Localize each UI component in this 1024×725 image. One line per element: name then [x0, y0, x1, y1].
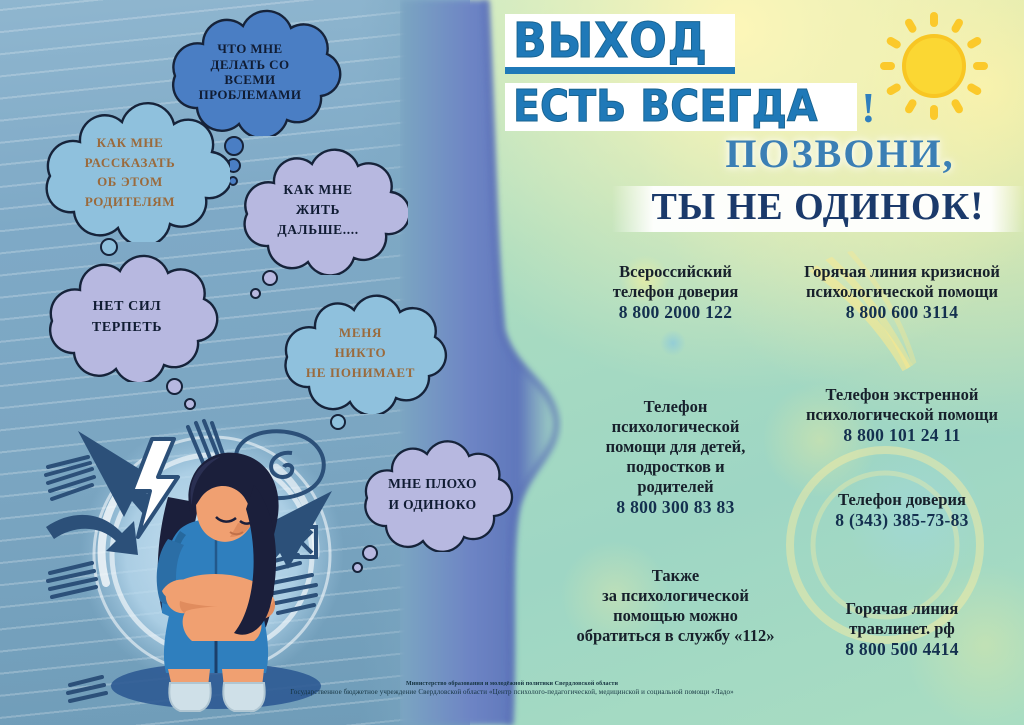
phone-label-line: Горячая линия [782, 599, 1022, 619]
thought-bubble-nobody-understands: МЕНЯ НИКТО НЕ ПОНИМАЕТ [268, 292, 453, 414]
headline-exclamation-2: ! [970, 183, 984, 228]
bubble-line: ЧТО МНЕ [199, 41, 302, 56]
bubble-text: КАК МНЕ ЖИТЬ ДАЛЬШЕ.... [277, 180, 358, 241]
phone-label-line: Горячая линия кризисной [782, 262, 1022, 282]
footer-institution-line: Государственное бюджетное учреждение Све… [0, 688, 1024, 697]
bubble-text: НЕТ СИЛ ТЕРПЕТЬ [92, 296, 162, 338]
phone-label-line: Телефон экстренной [782, 385, 1022, 405]
bubble-text: КАК МНЕ РАССКАЗАТЬ ОБ ЭТОМ РОДИТЕЛЯМ [85, 133, 176, 211]
bubble-line: КАК МНЕ [277, 180, 358, 200]
bubble-line: РОДИТЕЛЯМ [85, 192, 176, 212]
bubble-tail-dot [250, 288, 261, 299]
bubble-line: МЕНЯ [306, 323, 415, 343]
bubble-text: МНЕ ПЛОХО И ОДИНОКО [388, 474, 477, 515]
phone-label-line: помощью можно [554, 606, 797, 626]
bubble-line: НИКТО [306, 343, 415, 363]
phone-label-line: родителей [568, 477, 783, 497]
headline-line-3: ПОЗВОНИ, [660, 130, 1020, 177]
phone-number[interactable]: 8 800 300 83 83 [568, 497, 783, 518]
headline-exclamation-1: ! [861, 87, 875, 131]
phone-label-line: психологической [568, 417, 783, 437]
bubble-line: РАССКАЗАТЬ [85, 153, 176, 173]
phone-label-line: подростков и [568, 457, 783, 477]
poster-canvas: ВЫХОД ЕСТЬ ВСЕГДА ! ПОЗВОНИ, ТЫ НЕ ОДИНО… [0, 0, 1024, 725]
phone-block: Также за психологической помощью можно о… [554, 566, 797, 646]
headline-always-row: ЕСТЬ ВСЕГДА ! [505, 83, 1015, 131]
bubble-line: ДАЛЬШЕ.... [277, 220, 358, 240]
headline-always-box: ЕСТЬ ВСЕГДА [505, 83, 857, 131]
bubble-line: ТЕРПЕТЬ [92, 317, 162, 338]
headline-line-4: ТЫ НЕ ОДИНОК [652, 186, 971, 228]
phone-label-line: Всероссийский [568, 262, 783, 282]
headline-line-2: ЕСТЬ ВСЕГДА [513, 83, 818, 131]
phone-number[interactable]: 8 800 600 3114 [782, 302, 1022, 323]
headline-exit-box: ВЫХОД [505, 14, 735, 74]
phone-block: Телефон доверия 8 (343) 385-73-83 [782, 490, 1022, 531]
phone-label-line: за психологической [554, 586, 797, 606]
bubble-line: КАК МНЕ [85, 133, 176, 153]
phone-label-line: Телефон доверия [782, 490, 1022, 510]
bubble-text: МЕНЯ НИКТО НЕ ПОНИМАЕТ [306, 323, 415, 383]
phone-block: Горячая линия травлинет. рф 8 800 500 44… [782, 599, 1022, 660]
phone-column-left: Всероссийский телефон доверия 8 800 2000… [568, 262, 783, 646]
phone-number[interactable]: 8 (343) 385-73-83 [782, 510, 1022, 531]
headline-line-1: ВЫХОД [513, 15, 708, 67]
thought-bubble-no-strength: НЕТ СИЛ ТЕРПЕТЬ [32, 252, 222, 382]
bubble-tail-dot [166, 378, 183, 395]
bubble-line: ОБ ЭТОМ [85, 172, 176, 192]
phone-label-line: обратиться в службу «112» [554, 626, 797, 646]
bubble-text: ЧТО МНЕ ДЕЛАТЬ СО ВСЕМИ ПРОБЛЕМАМИ [199, 41, 302, 102]
phone-label-line: Также [554, 566, 797, 586]
bubble-line: НЕТ СИЛ [92, 296, 162, 317]
bubble-line: ЖИТЬ [277, 200, 358, 220]
phone-label-line: Телефон [568, 397, 783, 417]
phone-block: Всероссийский телефон доверия 8 800 2000… [568, 262, 783, 323]
bubble-line: ПРОБЛЕМАМИ [199, 87, 302, 102]
headline-line-4-row: ТЫ НЕ ОДИНОК! [612, 182, 1024, 229]
phone-block: Телефон экстренной психологической помощ… [782, 385, 1022, 446]
illustration-sad-girl [40, 405, 390, 715]
phone-label-line: травлинет. рф [782, 619, 1022, 639]
bubble-line: МНЕ ПЛОХО [388, 474, 477, 494]
phone-label-line: психологической помощи [782, 405, 1022, 425]
footer: Министерство образования и молодёжной по… [0, 680, 1024, 697]
phone-block: Телефон психологической помощи для детей… [568, 397, 783, 518]
phone-label-line: помощи для детей, [568, 437, 783, 457]
phone-label-line: психологической помощи [782, 282, 1022, 302]
phone-number[interactable]: 8 800 2000 122 [568, 302, 783, 323]
phone-block: Горячая линия кризисной психологической … [782, 262, 1022, 323]
bubble-line: НЕ ПОНИМАЕТ [306, 363, 415, 383]
bubble-line: ДЕЛАТЬ СО [199, 57, 302, 72]
phone-label-line: телефон доверия [568, 282, 783, 302]
phone-number[interactable]: 8 800 101 24 11 [782, 425, 1022, 446]
bubble-tail-dot [262, 270, 278, 286]
bubble-line: И ОДИНОКО [388, 495, 477, 515]
thought-bubble-tell-parents: КАК МНЕ РАССКАЗАТЬ ОБ ЭТОМ РОДИТЕЛЯМ [30, 102, 230, 242]
phone-number[interactable]: 8 800 500 4414 [782, 639, 1022, 660]
bubble-line: ВСЕМИ [199, 72, 302, 87]
headline-group: ВЫХОД ЕСТЬ ВСЕГДА ! [505, 14, 1015, 131]
thought-bubble-how-to-live: КАК МНЕ ЖИТЬ ДАЛЬШЕ.... [228, 145, 408, 275]
footer-ministry-line: Министерство образования и молодёжной по… [0, 680, 1024, 688]
phone-column-right: Горячая линия кризисной психологической … [782, 262, 1022, 660]
